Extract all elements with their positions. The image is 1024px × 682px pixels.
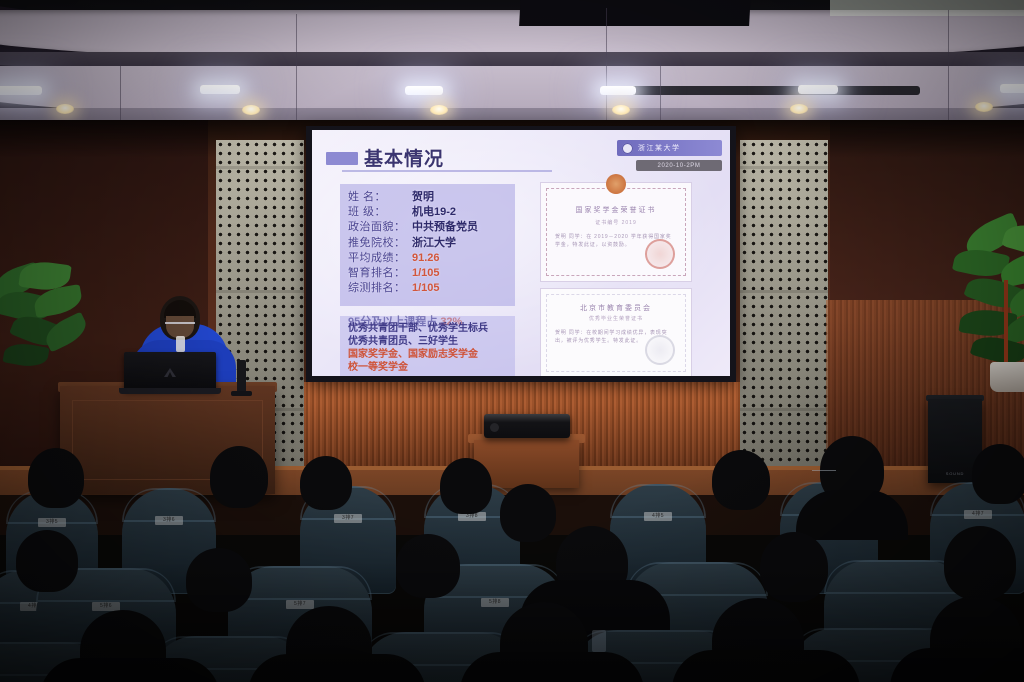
info-value: 1/105 [412,266,440,281]
honor-line: 优秀共青团干部、优秀学生标兵 [340,322,515,335]
slide-date-badge: 2020-10-2PM [636,160,722,171]
audience-head [760,532,828,602]
honor-line: 优秀共青团员、三好学生 [340,335,515,348]
certificate-subheading: 证书编号 2019 [541,219,691,226]
ceiling-downlight [430,105,448,115]
ceiling-downlight [56,104,74,114]
audience-head [16,530,78,592]
certificate-subheading: 优秀毕业生荣誉证书 [541,315,691,322]
info-label: 智育排名： [348,266,412,281]
ceiling-light-bar [200,85,240,94]
plant-left [0,262,104,382]
certificate-image-2: 北京市教育委员会 优秀毕业生荣誉证书 贺明 同学：在校期间学习成绩优异，表现突出… [540,288,692,376]
university-logo-bar: 浙江某大学 [617,140,722,156]
ceiling-light-bar [600,86,636,95]
ceiling-downlight [612,105,630,115]
info-value: 机电19-2 [412,205,456,220]
ceiling-light-bar [1000,84,1024,93]
certificate-image-1: 国家奖学金荣誉证书 证书编号 2019 贺明 同学：在 2019－2020 学年… [540,182,692,282]
audience-glasses-icon [812,470,836,474]
acoustic-panel-right [740,140,828,470]
projection-screen[interactable]: 基本情况 浙江某大学 2020-10-2PM 姓 名：贺明 班 级：机电19-2… [312,130,730,376]
info-row: 推免院校：浙江大学 [340,236,515,251]
audience-head [186,548,252,612]
honor-line: 校一等奖学金 [340,361,515,374]
ceiling-slot [610,86,920,95]
audience-head [944,526,1016,600]
seat-number: 4排7 [964,510,992,519]
title-accent-chip [326,152,358,165]
audience-head [712,450,770,510]
info-label: 班 级： [348,205,412,220]
info-value: 中共预备党员 [412,220,478,235]
honors-box: 优秀共青团干部、优秀学生标兵 优秀共青团员、三好学生 国家奖学金、国家励志奖学金… [340,316,515,376]
info-row: 班 级：机电19-2 [340,205,515,220]
seat-number: 3排6 [155,516,183,525]
honor-line: 国家奖学金、国家励志奖学金 [340,348,515,361]
seat-number: 3排5 [38,518,66,527]
plant-right [956,222,1024,402]
microphone[interactable] [237,360,246,394]
ceiling-downlight [975,102,993,112]
plant-pot [990,362,1024,392]
info-row: 姓 名：贺明 [340,190,515,205]
info-label: 平均成绩： [348,251,412,266]
audience-head [300,456,352,510]
ceiling-light-bar [798,85,838,94]
laptop-base [119,388,221,394]
audience-area: 3排5 3排6 3排7 3排8 4排5 4排6 4排7 [0,430,1024,682]
info-value: 1/105 [412,281,440,296]
certificate-stamp-icon [645,335,675,365]
info-row: 政治面貌：中共预备党员 [340,220,515,235]
seat-number: 5排8 [481,598,509,607]
info-value: 91.26 [412,251,440,266]
certificate-seal-icon [606,174,626,194]
seat-number: 3排7 [334,514,362,523]
audience-head [500,484,556,542]
laptop[interactable] [124,352,216,390]
phone-screen [592,630,606,652]
certificate-heading: 北京市教育委员会 [541,303,691,313]
info-value: 贺明 [412,190,434,205]
certificate-heading: 国家奖学金荣誉证书 [541,205,691,215]
student-info-box: 姓 名：贺明 班 级：机电19-2 政治面貌：中共预备党员 推免院校：浙江大学 … [340,184,515,306]
info-value: 浙江大学 [412,236,456,251]
title-underline [342,170,552,172]
info-label: 推免院校： [348,236,412,251]
audience-head [396,534,460,598]
slide-date-text: 2020-10-2PM [658,163,701,169]
ceiling-light-bar [0,86,42,95]
microphone-base [231,391,252,396]
ceiling-right-panel [830,0,1024,16]
ceiling [0,0,1024,132]
info-row: 平均成绩：91.26 [340,251,515,266]
ceiling-downlight [242,105,260,115]
presenter-glasses-icon [165,322,195,327]
ceiling-center-recess [519,0,751,26]
certificate-stamp-icon [645,239,675,269]
university-emblem-icon [622,143,633,154]
ceiling-light-bar [405,86,443,95]
auditorium-scene: 基本情况 浙江某大学 2020-10-2PM 姓 名：贺明 班 级：机电19-2… [0,0,1024,682]
audience-head [440,458,492,514]
ceiling-downlight [790,104,808,114]
info-row: 智育排名：1/105 [340,266,515,281]
info-row: 综测排名：1/105 [340,281,515,296]
seat-number: 4排5 [644,512,672,521]
audience-head [28,448,84,508]
university-logo-text: 浙江某大学 [638,143,681,153]
seat-number: 5排7 [286,600,314,609]
laptop-logo-icon [164,368,176,377]
audience-head [972,444,1024,504]
info-label: 综测排名： [348,281,412,296]
audience-head [210,446,268,508]
info-label: 政治面貌： [348,220,412,235]
slide-title: 基本情况 [364,144,444,171]
info-label: 姓 名： [348,190,412,205]
